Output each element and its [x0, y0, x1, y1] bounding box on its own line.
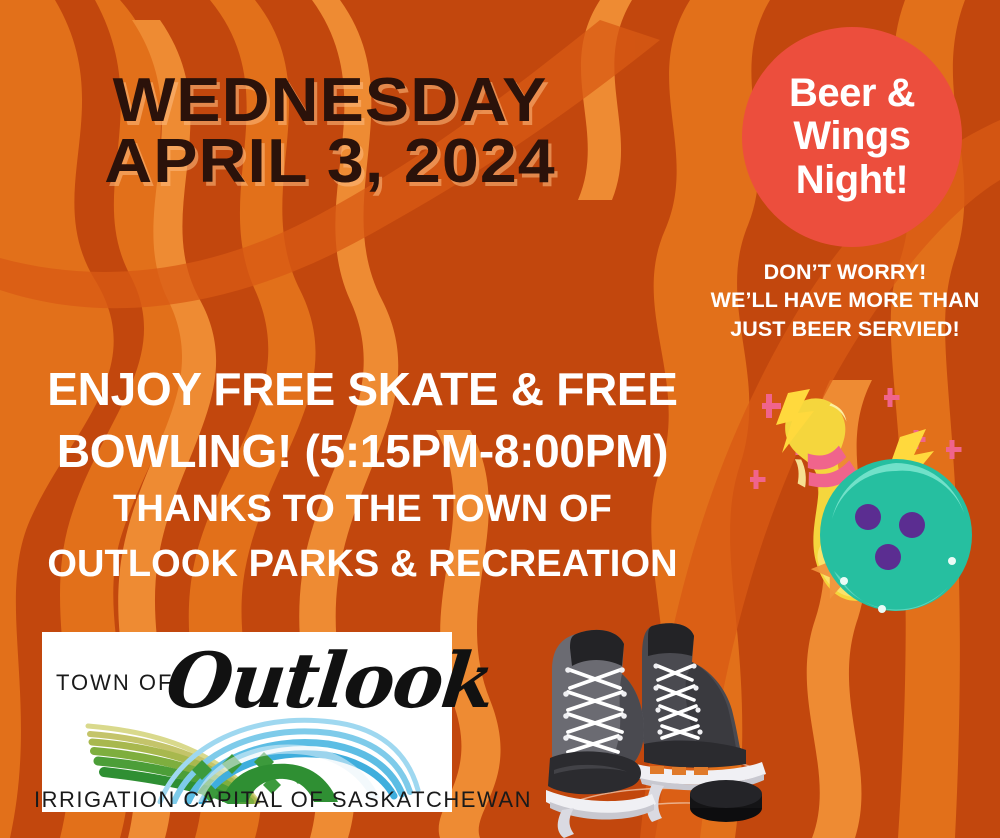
body-line-3: THANKS TO THE TOWN OF [0, 482, 725, 537]
disclaimer-line-3: JUST BEER SERVIED! [690, 315, 1000, 343]
bowling-illustration [748, 385, 1000, 620]
badge-text: Beer & Wings Night! [789, 72, 915, 202]
beer-wings-badge: Beer & Wings Night! [742, 27, 962, 247]
body-line-4: OUTLOOK PARKS & RECREATION [0, 537, 725, 592]
disclaimer-line-2: WE’LL HAVE MORE THAN [690, 286, 1000, 314]
disclaimer-text: DON’T WORRY! WE’LL HAVE MORE THAN JUST B… [690, 258, 1000, 343]
body-line-1: ENJOY FREE SKATE & FREE [0, 358, 725, 420]
disclaimer-line-1: DON’T WORRY! [690, 258, 1000, 286]
badge-line-2: Wings [789, 115, 915, 158]
logo-tagline: IRRIGATION CAPITAL OF SASKATCHEWAN [34, 787, 460, 813]
town-of-outlook-logo: TOWN OF Outlook [42, 632, 452, 812]
badge-line-3: Night! [789, 159, 915, 202]
ice-skates-illustration [540, 608, 805, 838]
badge-line-1: Beer & [789, 72, 915, 115]
promotional-poster: WEDNESDAY APRIL 3, 2024 Beer & Wings Nig… [0, 0, 1000, 838]
body-copy: ENJOY FREE SKATE & FREE BOWLING! (5:15PM… [0, 358, 725, 592]
skate-front [546, 630, 656, 838]
hockey-puck [690, 780, 762, 822]
skate-front-blade [546, 790, 656, 838]
logo-town-of-label: TOWN OF [56, 670, 173, 696]
body-line-2: BOWLING! (5:15PM-8:00PM) [0, 420, 725, 482]
